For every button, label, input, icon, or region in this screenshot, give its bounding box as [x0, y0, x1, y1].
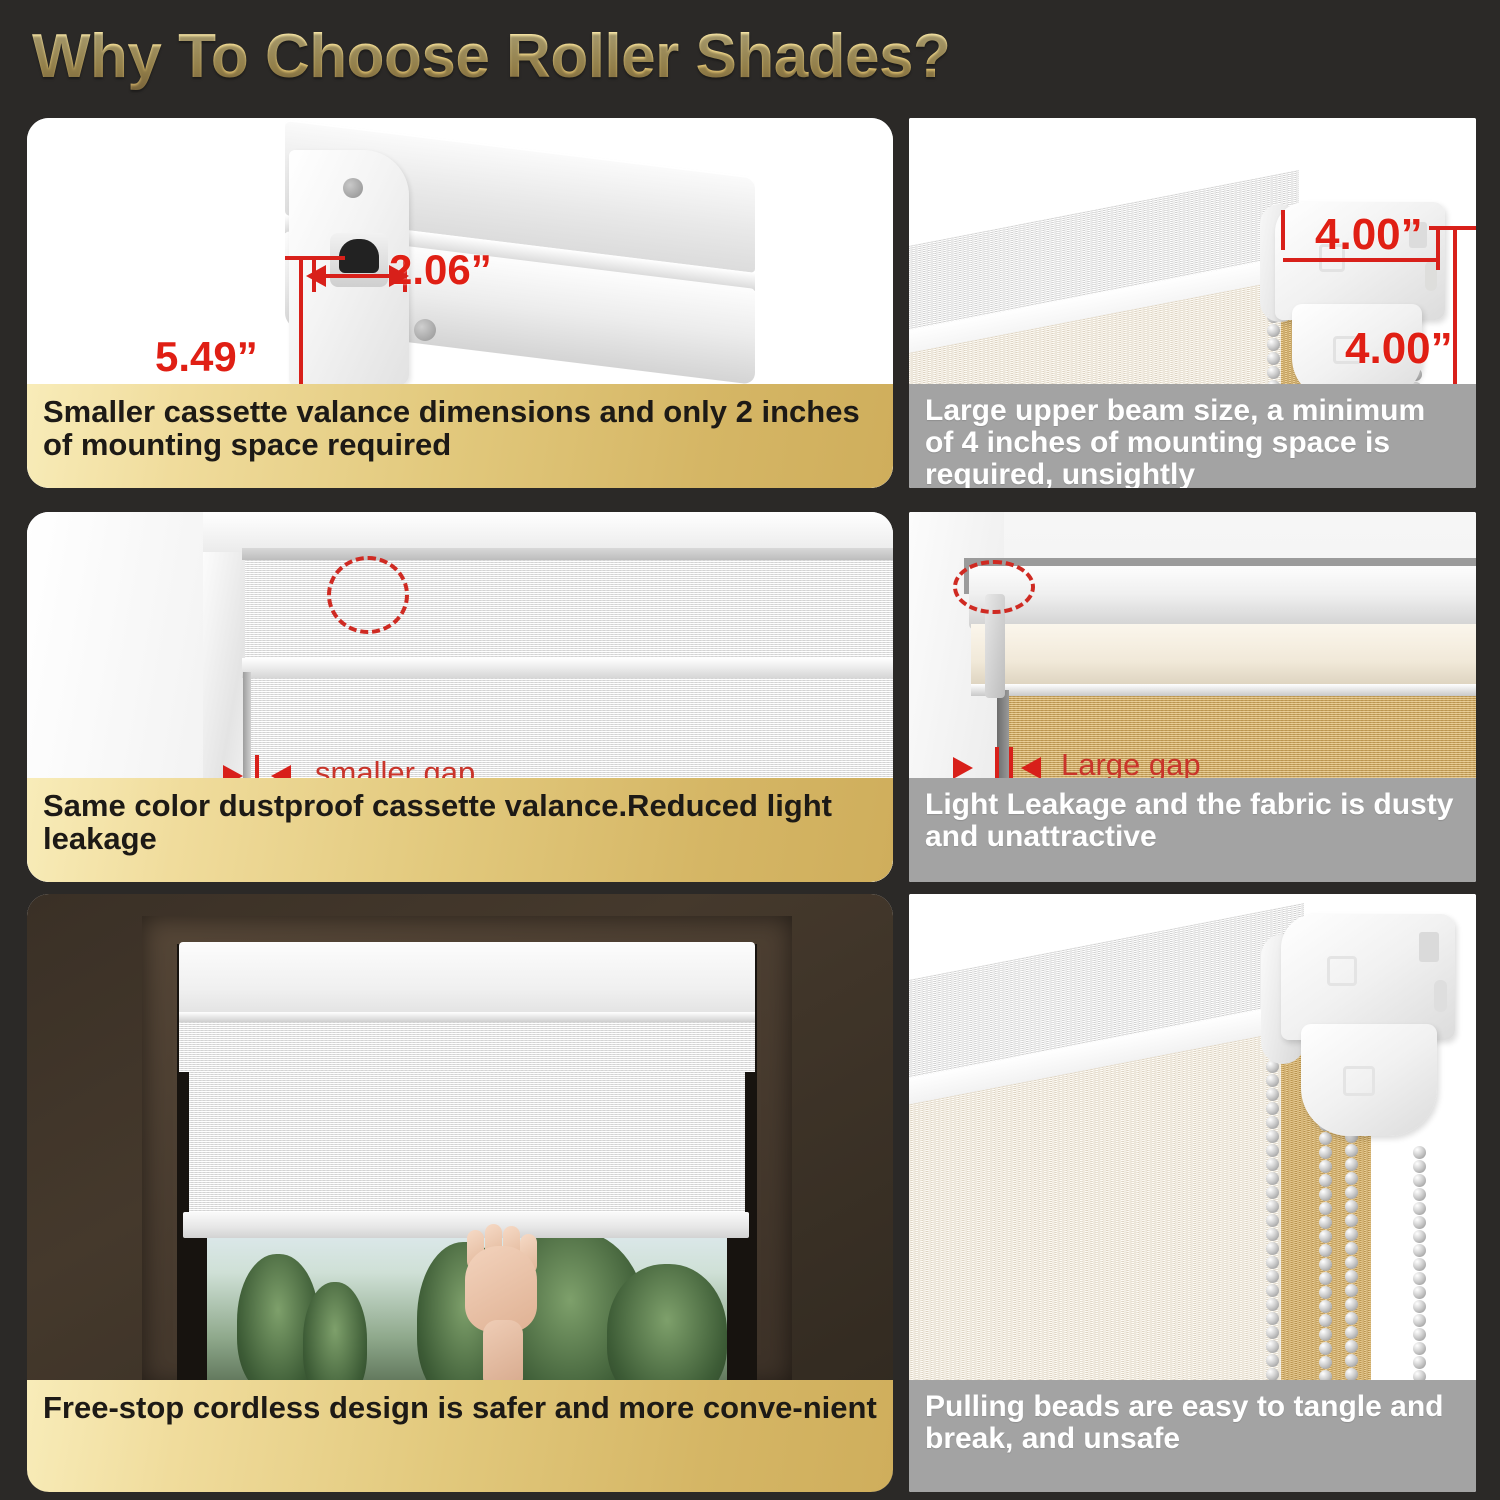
- panel-con-beads: Pulling beads are easy to tangle and bre…: [909, 894, 1476, 1492]
- caption-pro-cordless: Free-stop cordless design is safer and m…: [27, 1380, 893, 1492]
- gap-arrow-right: [953, 757, 973, 779]
- bracket-slot: [330, 233, 388, 287]
- gap-arrow-left: [1021, 757, 1041, 779]
- dim-tick: [285, 256, 345, 260]
- cassette-top-rail: [242, 548, 893, 560]
- panel-pro-small-gap: smaller gap Same color dustproof cassett…: [27, 512, 893, 882]
- dimension-height-label: 4.00”: [1345, 324, 1453, 374]
- cassette-lip: [242, 658, 893, 678]
- dimension-width-label: 4.00”: [1315, 210, 1423, 260]
- caption-con-beam-size: Large upper beam size, a minimum of 4 in…: [909, 384, 1476, 488]
- panel-pro-cordless: Free-stop cordless design is safer and m…: [27, 894, 893, 1492]
- dim-tick: [1281, 210, 1285, 250]
- screw-icon: [414, 319, 436, 341]
- bracket-slot-icon: [1434, 980, 1447, 1012]
- panel-con-large-gap: Large gap Light Leakage and the fabric i…: [909, 512, 1476, 882]
- cassette-headrail: [179, 942, 755, 1020]
- caption-con-beads: Pulling beads are easy to tangle and bre…: [909, 1380, 1476, 1492]
- bracket-emboss-icon: [1343, 1066, 1375, 1096]
- caption-pro-cassette-size: Smaller cassette valance dimensions and …: [27, 384, 893, 488]
- gap-marker: [995, 747, 999, 781]
- headrail-lip: [179, 1012, 755, 1022]
- beam-bottom-edge: [971, 684, 1476, 696]
- bracket-emboss-icon: [1327, 956, 1357, 986]
- highlight-circle: [953, 560, 1035, 614]
- dimension-height-label: 5.49”: [155, 333, 258, 381]
- dim-arrow: [306, 265, 326, 287]
- caption-con-large-gap: Light Leakage and the fabric is dusty an…: [909, 778, 1476, 882]
- upper-beam: [969, 566, 1476, 630]
- beam-valance: [971, 624, 1476, 686]
- screw-icon: [343, 178, 363, 198]
- page-title: Why To Choose Roller Shades?: [32, 21, 950, 92]
- dim-tick: [1436, 228, 1440, 270]
- panel-con-beam-size: 4.00” 4.00” Large upper beam size, a min…: [909, 118, 1476, 488]
- gap-marker: [1009, 747, 1013, 781]
- window-frame-top: [203, 512, 893, 552]
- caption-pro-small-gap: Same color dustproof cassette valance.Re…: [27, 778, 893, 882]
- hand-pulling-shade: [457, 1224, 543, 1389]
- highlight-circle: [327, 556, 409, 634]
- bracket-slot-icon: [1419, 932, 1439, 962]
- page-header: Why To Choose Roller Shades?: [0, 0, 1500, 112]
- dim-line-height: [1453, 228, 1457, 410]
- shade-fabric: [189, 1070, 745, 1230]
- panel-pro-cassette-size: 2.06” 5.49” Smaller cassette valance dim…: [27, 118, 893, 488]
- shade-roll: [179, 1020, 755, 1072]
- dim-arrow: [389, 265, 409, 287]
- comparison-grid: 2.06” 5.49” Smaller cassette valance dim…: [0, 112, 1500, 1500]
